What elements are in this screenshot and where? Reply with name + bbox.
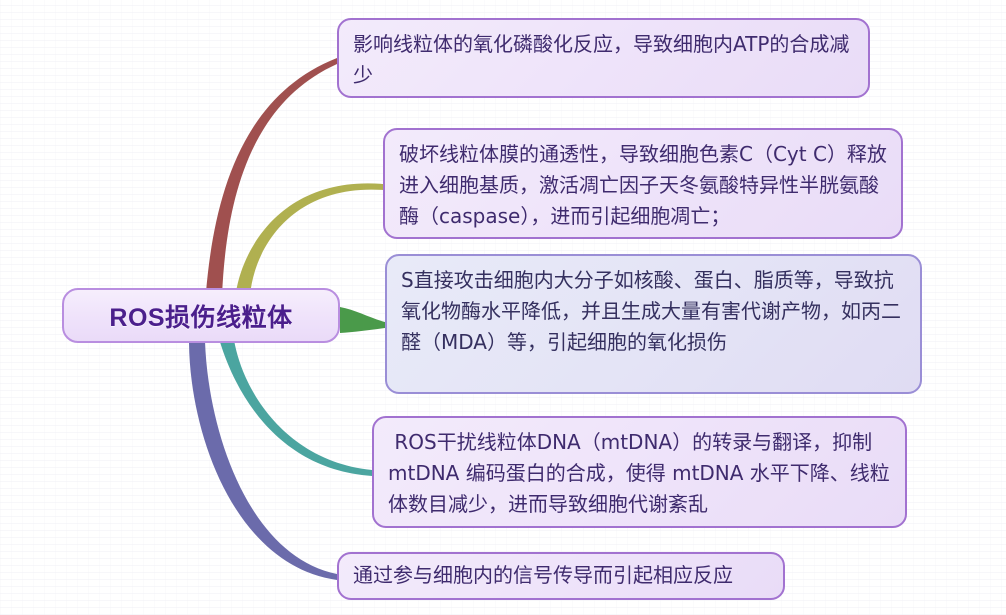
connector-branch-3	[340, 307, 385, 333]
branch-node-4-label: ROS干扰线粒体DNA（mtDNA）的转录与翻译，抑制 mtDNA 编码蛋白的合…	[388, 427, 891, 520]
branch-node-1-label: 影响线粒体的氧化磷酸化反应，导致细胞内ATP的合成减少	[353, 29, 854, 91]
branch-node-3[interactable]: S直接攻击细胞内大分子如核酸、蛋白、脂质等，导致抗氧化物酶水平降低，并且生成大量…	[385, 254, 922, 394]
branch-node-4[interactable]: ROS干扰线粒体DNA（mtDNA）的转录与翻译，抑制 mtDNA 编码蛋白的合…	[372, 416, 907, 528]
branch-node-5-label: 通过参与细胞内的信号传导而引起相应反应	[353, 560, 733, 591]
branch-node-2-label: 破坏线粒体膜的通透性，导致细胞色素C（Cyt C）释放进入细胞基质，激活凋亡因子…	[399, 139, 887, 232]
branch-node-3-label: S直接攻击细胞内大分子如核酸、蛋白、脂质等，导致抗氧化物酶水平降低，并且生成大量…	[401, 265, 906, 358]
branch-node-1[interactable]: 影响线粒体的氧化磷酸化反应，导致细胞内ATP的合成减少	[337, 18, 870, 98]
connector-branch-2	[236, 183, 383, 296]
branch-node-2[interactable]: 破坏线粒体膜的通透性，导致细胞色素C（Cyt C）释放进入细胞基质，激活凋亡因子…	[383, 128, 903, 239]
branch-node-5[interactable]: 通过参与细胞内的信号传导而引起相应反应	[337, 552, 785, 600]
mindmap-canvas: ROS损伤线粒体 影响线粒体的氧化磷酸化反应，导致细胞内ATP的合成减少 破坏线…	[0, 0, 1006, 615]
root-node[interactable]: ROS损伤线粒体	[62, 288, 340, 343]
connector-branch-1	[206, 58, 337, 296]
root-node-label: ROS损伤线粒体	[109, 298, 292, 334]
connector-branch-4	[220, 340, 372, 476]
